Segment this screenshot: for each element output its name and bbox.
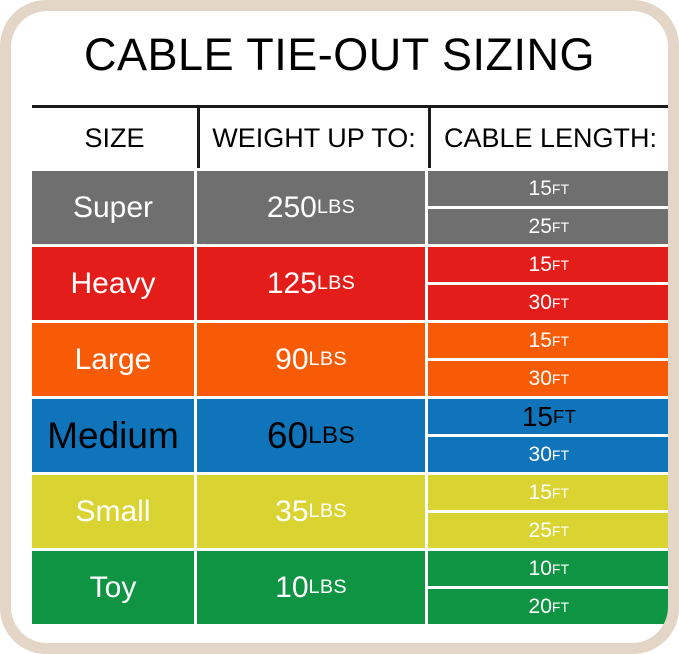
cable-length-option: 25FT — [428, 513, 668, 548]
length-value: 25 — [529, 519, 552, 543]
weight-unit: LBS — [309, 348, 347, 371]
length-unit: FT — [552, 257, 570, 273]
length-value: 15 — [529, 329, 552, 353]
length-unit: FT — [552, 181, 570, 197]
cable-length-option: 30FT — [428, 361, 668, 396]
table-row: Small35LBS15FT25FT — [32, 472, 668, 551]
cell-size: Super — [32, 171, 197, 244]
length-value: 30 — [529, 291, 552, 315]
cable-length-option: 15FT — [428, 475, 668, 513]
header-cable-length: CABLE LENGTH: — [428, 108, 668, 168]
weight-value: 90 — [275, 343, 308, 377]
cable-length-option: 10FT — [428, 551, 668, 589]
cable-length-option: 15FT — [428, 399, 668, 437]
length-value: 15 — [529, 177, 552, 201]
header-weight: WEIGHT UP TO: — [197, 108, 428, 168]
weight-unit: LBS — [309, 576, 347, 599]
weight-value: 35 — [275, 495, 308, 529]
weight-value: 60 — [267, 415, 308, 457]
page-title: CABLE TIE-OUT SIZING — [11, 27, 668, 83]
sizing-table: SIZE WEIGHT UP TO: CABLE LENGTH: Super25… — [32, 105, 668, 627]
length-value: 10 — [529, 557, 552, 581]
cable-length-option: 20FT — [428, 589, 668, 624]
length-value: 15 — [529, 253, 552, 277]
weight-value: 250 — [267, 191, 317, 225]
length-unit: FT — [552, 371, 570, 387]
cell-cable-lengths: 15FT30FT — [428, 323, 668, 396]
cell-size: Heavy — [32, 247, 197, 320]
length-value: 20 — [529, 595, 552, 619]
cell-cable-lengths: 15FT30FT — [428, 247, 668, 320]
cable-length-option: 30FT — [428, 437, 668, 472]
length-value: 15 — [522, 401, 553, 433]
length-unit: FT — [552, 561, 570, 577]
cell-size: Toy — [32, 551, 197, 624]
cable-length-option: 25FT — [428, 209, 668, 244]
cell-size: Large — [32, 323, 197, 396]
cell-size: Medium — [32, 399, 197, 472]
cable-length-option: 30FT — [428, 285, 668, 320]
cable-length-option: 15FT — [428, 323, 668, 361]
header-size: SIZE — [32, 108, 197, 168]
length-unit: FT — [552, 295, 570, 311]
table-row: Toy10LBS10FT20FT — [32, 548, 668, 627]
cell-cable-lengths: 10FT20FT — [428, 551, 668, 624]
cell-weight: 250LBS — [197, 171, 428, 244]
sizing-card: CABLE TIE-OUT SIZING SIZE WEIGHT UP TO: … — [11, 11, 668, 643]
length-value: 25 — [529, 215, 552, 239]
length-value: 30 — [529, 367, 552, 391]
length-unit: FT — [552, 333, 570, 349]
cell-weight: 35LBS — [197, 475, 428, 548]
weight-value: 125 — [267, 267, 317, 301]
cable-length-option: 15FT — [428, 171, 668, 209]
length-value: 30 — [529, 443, 552, 467]
weight-unit: LBS — [308, 422, 355, 450]
cell-size: Small — [32, 475, 197, 548]
cell-weight: 90LBS — [197, 323, 428, 396]
weight-unit: LBS — [309, 500, 347, 523]
weight-unit: LBS — [317, 196, 355, 219]
length-unit: FT — [552, 485, 570, 501]
table-body: Super250LBS15FT25FTHeavy125LBS15FT30FTLa… — [32, 168, 668, 627]
cell-cable-lengths: 15FT25FT — [428, 475, 668, 548]
weight-unit: LBS — [317, 272, 355, 295]
table-row: Large90LBS15FT30FT — [32, 320, 668, 399]
outer-frame: CABLE TIE-OUT SIZING SIZE WEIGHT UP TO: … — [0, 0, 679, 654]
cell-cable-lengths: 15FT25FT — [428, 171, 668, 244]
table-row: Super250LBS15FT25FT — [32, 168, 668, 247]
cell-cable-lengths: 15FT30FT — [428, 399, 668, 472]
cable-length-option: 15FT — [428, 247, 668, 285]
table-row: Medium60LBS15FT30FT — [32, 396, 668, 475]
length-unit: FT — [552, 219, 570, 235]
length-unit: FT — [553, 406, 576, 428]
cell-weight: 60LBS — [197, 399, 428, 472]
table-header-row: SIZE WEIGHT UP TO: CABLE LENGTH: — [32, 108, 668, 168]
weight-value: 10 — [275, 571, 308, 605]
length-unit: FT — [552, 447, 570, 463]
length-value: 15 — [529, 481, 552, 505]
length-unit: FT — [552, 523, 570, 539]
table-row: Heavy125LBS15FT30FT — [32, 244, 668, 323]
length-unit: FT — [552, 599, 570, 615]
cell-weight: 10LBS — [197, 551, 428, 624]
cell-weight: 125LBS — [197, 247, 428, 320]
